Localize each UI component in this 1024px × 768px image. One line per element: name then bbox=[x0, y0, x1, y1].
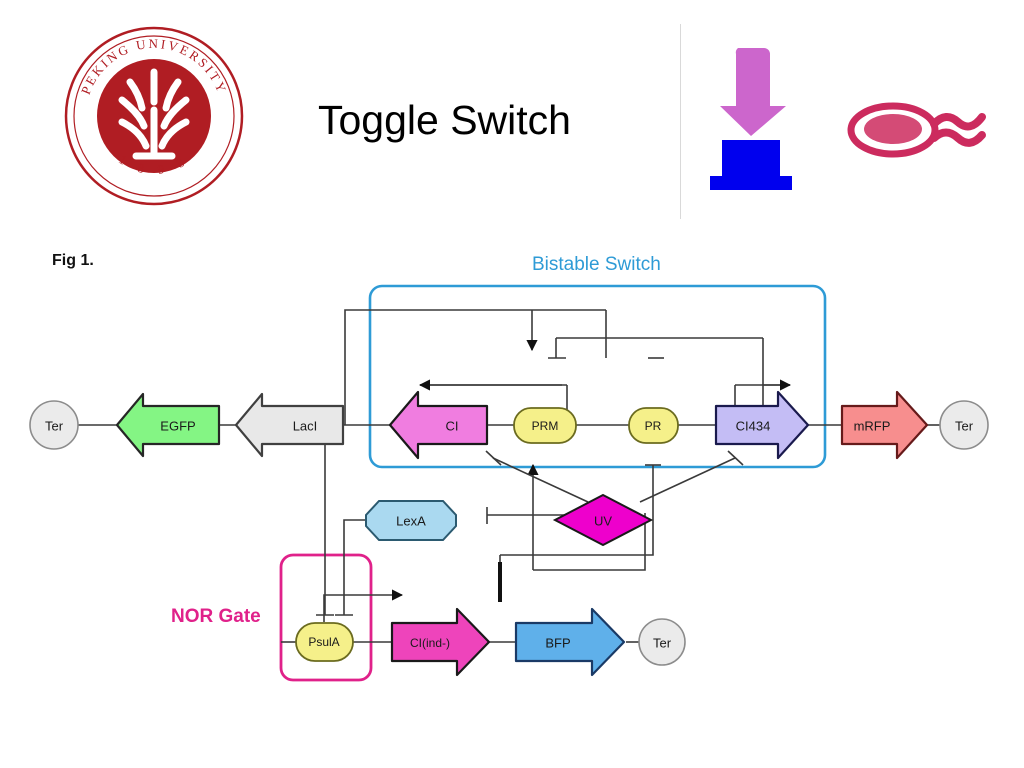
part-ter-right[interactable]: Ter bbox=[940, 401, 988, 449]
part-ci-ind[interactable]: CI(ind-) bbox=[392, 609, 489, 675]
induction-arrow-icon bbox=[700, 40, 810, 195]
part-mrfp[interactable]: mRFP bbox=[842, 392, 927, 458]
part-psula[interactable]: PsulA bbox=[296, 623, 353, 661]
part-bfp[interactable]: BFP bbox=[516, 609, 624, 675]
part-laci[interactable]: LacI bbox=[236, 394, 343, 456]
part-ci434[interactable]: CI434 bbox=[716, 392, 808, 458]
wire-psula-start bbox=[324, 595, 402, 622]
part-egfp[interactable]: EGFP bbox=[117, 394, 219, 456]
part-pr[interactable]: PR bbox=[629, 408, 678, 443]
wire-uv-diag-left bbox=[493, 458, 588, 502]
page-title: Toggle Switch bbox=[318, 92, 678, 152]
slide-canvas: PEKING UNIVERSITY 1 8 9 8 Toggle Switch … bbox=[0, 0, 1024, 768]
genetic-circuit-diagram: Ter EGFP LacI CI PRM PR CI bbox=[0, 230, 1024, 730]
part-prm[interactable]: PRM bbox=[514, 408, 576, 443]
peking-university-seal: PEKING UNIVERSITY 1 8 9 8 bbox=[62, 24, 246, 208]
part-ci[interactable]: CI bbox=[390, 392, 487, 458]
part-ter-bottom[interactable]: Ter bbox=[639, 619, 685, 665]
part-uv[interactable]: UV bbox=[555, 495, 651, 545]
header-divider bbox=[680, 24, 681, 219]
bacterium-icon bbox=[846, 92, 1001, 164]
part-lexa[interactable]: LexA bbox=[366, 501, 456, 540]
part-ter-left[interactable]: Ter bbox=[30, 401, 78, 449]
